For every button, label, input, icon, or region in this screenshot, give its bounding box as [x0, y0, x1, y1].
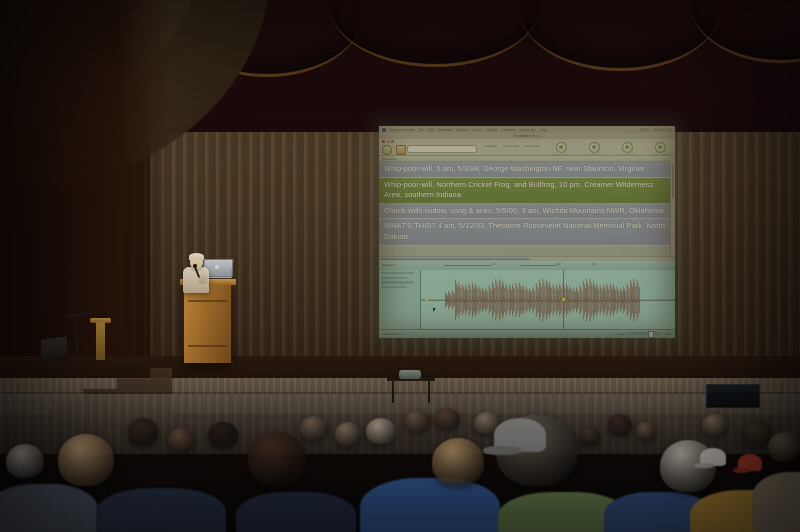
app-name-label: Sound Recorder: [390, 128, 415, 132]
stage-monitor-speaker: [40, 335, 68, 360]
toolbar-button-play-record[interactable]: Play/Record: [549, 142, 573, 156]
toolbar-label-select-tools: Select tools: [525, 144, 541, 148]
ruler-tick-label: :02: [557, 262, 561, 266]
mouse-pointer-icon: [433, 308, 436, 312]
podium: [184, 283, 231, 363]
microphone-stand: [76, 316, 78, 362]
audience-member-head: [636, 422, 656, 440]
waveform-panel-label: Waveform: [382, 263, 396, 267]
audience-member-cap: [700, 448, 726, 466]
audience-member-shoulders: [752, 472, 800, 532]
projection-screen: Sound Recorder File Edit Database Window…: [379, 126, 675, 338]
app-toolbar[interactable]: Database Cursor tools Select tools Play/…: [379, 139, 675, 156]
waveform-canvas[interactable]: [421, 270, 675, 330]
audience-member-head: [335, 422, 361, 446]
auditorium-presentation-photo: Sound Recorder File Edit Database Window…: [0, 0, 800, 532]
menu-item-cursor[interactable]: Cursor: [473, 128, 483, 132]
scrollbar-thumb[interactable]: [672, 164, 675, 198]
audience-member-shoulders: [0, 484, 98, 532]
audience-member-head: [300, 416, 328, 440]
track-info-line: [381, 272, 414, 274]
zoom-label: Zoom: [617, 332, 624, 336]
save-database-icon[interactable]: [655, 142, 666, 153]
slider-thumb[interactable]: [648, 331, 654, 338]
play-record-icon[interactable]: [556, 142, 567, 153]
search-input[interactable]: [407, 145, 477, 153]
audience-member-head: [432, 438, 484, 486]
audience-member-cap: [494, 418, 546, 452]
apple-menu-icon[interactable]: [382, 128, 386, 132]
audience-member-head: [6, 444, 44, 478]
menu-item-edit[interactable]: Edit: [428, 128, 434, 132]
track-info-line: [381, 281, 414, 283]
toolbar-label-cursor-tools: Cursor tools: [503, 144, 519, 148]
zoom-icon[interactable]: [391, 140, 394, 143]
waveform-status-bar: 44100 Hz 16-bit Zoom 1.00 x: [379, 329, 675, 338]
open-file-icon[interactable]: [396, 145, 406, 155]
new-window-icon[interactable]: [589, 142, 600, 153]
track-info-line: [381, 286, 407, 288]
audience-member-head: [608, 414, 632, 436]
ruler-tick-label: :01: [491, 262, 495, 266]
window-title: SoundEditor v6.1.3: [513, 134, 540, 138]
audience-member-shoulders: [236, 492, 356, 532]
toolbar-mid-labels: Database Cursor tools Select tools: [484, 144, 541, 148]
menu-item-database[interactable]: Database: [438, 128, 453, 132]
podium-trim: [188, 345, 227, 347]
audience-member-shoulders: [360, 478, 500, 532]
toolbar-left-icons[interactable]: [382, 145, 406, 155]
selection-marker[interactable]: [425, 298, 428, 301]
toolbar-label-database: Database: [484, 144, 497, 148]
presenter-hair: [189, 253, 204, 260]
window-traffic-lights[interactable]: [382, 140, 394, 143]
close-icon[interactable]: [382, 140, 385, 143]
selection-marker[interactable]: [562, 298, 565, 301]
microphone-capsule-icon: [193, 264, 197, 268]
list-item-selected[interactable]: Whip-poor-will, Northern Cricket Frog, a…: [379, 178, 675, 204]
app-menubar[interactable]: Sound Recorder File Edit Database Window…: [379, 126, 675, 133]
list-item[interactable]: Chuck-wills-widow, song & anks, 5/5/00, …: [379, 204, 675, 220]
valance-swag: [330, 0, 540, 67]
audience-member-head: [404, 410, 430, 432]
list-item[interactable]: WHAT'S THIS? 4 am, 5/12/93, Theodore Roo…: [379, 219, 675, 245]
ruler-tick-label: :03: [592, 262, 596, 266]
stool-leg: [96, 322, 105, 360]
curtain-shadow-left: [0, 0, 170, 390]
waveform-body: [379, 270, 675, 330]
ruler-tick: [521, 265, 557, 266]
valance-swag: [690, 0, 800, 63]
ruler-tick: [444, 265, 491, 266]
toolbar-button-spectro[interactable]: Spectro Sound: [615, 142, 639, 156]
menu-item-window[interactable]: Window: [457, 128, 469, 132]
audience-member-head: [702, 414, 728, 436]
toolbar-button-save-db[interactable]: Save to DB: [648, 142, 672, 156]
podium-trim: [188, 300, 227, 302]
audience-member-head: [168, 428, 194, 452]
menu-item-debug[interactable]: Debug: [487, 128, 497, 132]
menubar-battery-status: 100%: [641, 128, 650, 132]
menu-item-file[interactable]: File: [419, 128, 424, 132]
audience-member-head: [742, 420, 772, 446]
audience-member-head: [580, 426, 600, 446]
menu-item-colorbars[interactable]: Colorbars: [501, 128, 516, 132]
recordings-list[interactable]: Recordings Whip-poor-will, 5 am, 5/3/88,…: [379, 156, 675, 262]
audience-seating: [0, 392, 800, 532]
waveform-panel[interactable]: Waveform :01 :02 :03: [379, 261, 675, 338]
audience-member-head: [248, 432, 306, 486]
list-vertical-scrollbar[interactable]: [670, 161, 675, 261]
toolbar-right-buttons[interactable]: Play/Record New Window Spectro Sound Sav…: [549, 142, 672, 156]
laptop-brand-logo-icon: [215, 265, 219, 269]
track-info-panel[interactable]: [379, 270, 421, 330]
audience-member-head: [58, 434, 114, 486]
audience-member-shoulders: [96, 488, 226, 532]
audio-format-status: 44100 Hz 16-bit: [382, 332, 402, 336]
audience-member-head: [366, 418, 396, 444]
menu-item-soundapp[interactable]: Sound App: [519, 128, 536, 132]
audience-member-cap: [738, 454, 762, 471]
track-info-line: [381, 277, 407, 279]
toolbar-button-new-window[interactable]: New Window: [582, 142, 606, 156]
menubar-clock: Sat 3:14 PM: [653, 128, 672, 132]
zoom-control-group[interactable]: Zoom 1.00 x: [617, 332, 672, 336]
zoom-slider[interactable]: [626, 332, 662, 335]
audience-member-head: [208, 422, 238, 448]
audience-member-head: [768, 432, 800, 462]
audience-member-head: [434, 408, 460, 430]
zoom-value: 1.00 x: [664, 332, 672, 336]
menu-item-help[interactable]: Help: [540, 128, 547, 132]
folder-icon[interactable]: [382, 145, 392, 155]
minimize-icon[interactable]: [387, 140, 390, 143]
audio-waveform-trace: [421, 270, 675, 330]
list-item[interactable]: Whip-poor-will, 5 am, 5/3/88, George Was…: [379, 162, 675, 178]
spectrogram-icon[interactable]: [622, 142, 633, 153]
audience-member-head: [128, 418, 158, 446]
scrollbar-thumb[interactable]: [380, 258, 530, 261]
equipment-on-table: [399, 370, 421, 379]
